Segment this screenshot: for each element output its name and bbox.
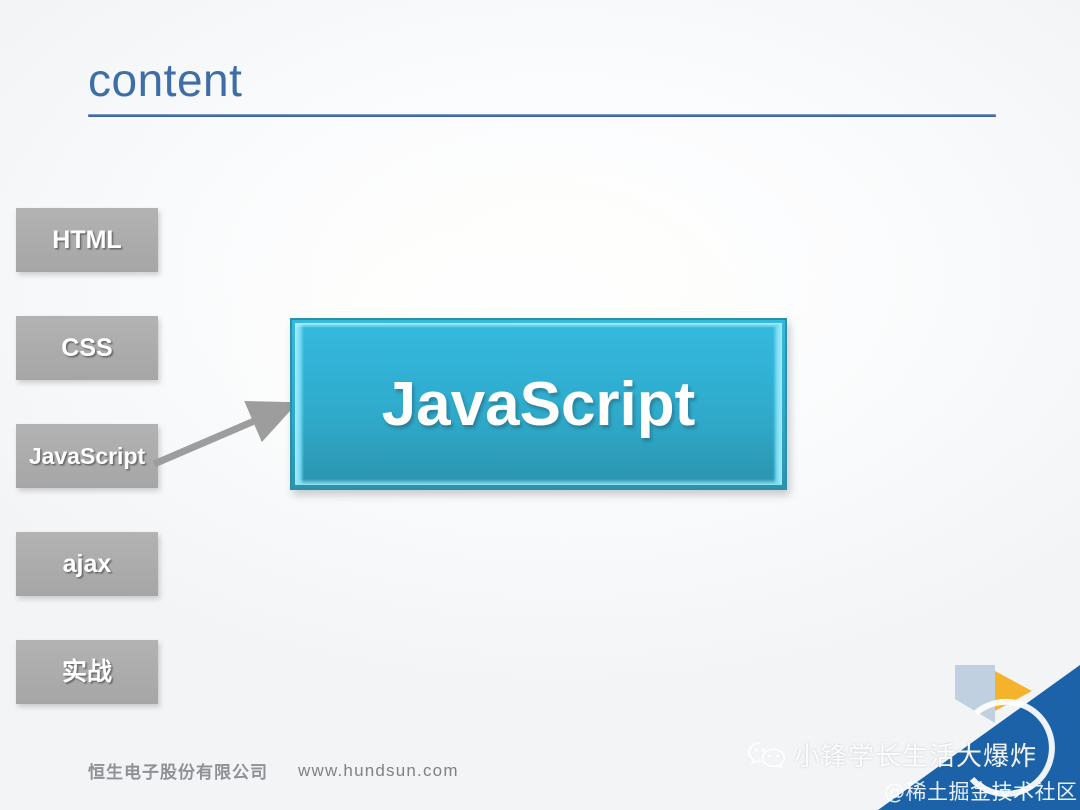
nav-chip-ajax[interactable]: ajax [16, 532, 158, 596]
watermark-account-name: 小锋学长生活大爆炸 [794, 736, 1037, 773]
nav-list: HTML CSS JavaScript ajax 实战 [16, 208, 158, 748]
footer-url: www.hundsun.com [298, 761, 459, 781]
nav-chip-label: HTML [52, 226, 121, 254]
title-block: content [88, 52, 996, 117]
nav-chip-javascript[interactable]: JavaScript [16, 424, 158, 488]
nav-chip-practice[interactable]: 实战 [16, 640, 158, 704]
box-top-bevel [295, 323, 782, 328]
wechat-icon [748, 740, 786, 770]
nav-chip-label: CSS [61, 334, 112, 362]
nav-chip-label: ajax [63, 550, 112, 578]
box-bottom-bevel [295, 479, 782, 485]
footer-company-name: 恒生电子股份有限公司 [88, 758, 268, 783]
title-underline [88, 114, 996, 117]
nav-chip-label: JavaScript [29, 443, 145, 470]
nav-chip-label: 实战 [62, 658, 112, 686]
connector-arrow-icon [140, 380, 315, 485]
main-content-box[interactable]: JavaScript [290, 318, 787, 490]
watermark-community: @稀土掘金技术社区 [884, 776, 1078, 806]
slide-canvas: content HTML CSS JavaScript ajax 实战 [0, 0, 1080, 810]
main-box-label: JavaScript [382, 369, 696, 440]
nav-chip-html[interactable]: HTML [16, 208, 158, 272]
corner-decoration [780, 665, 1080, 810]
footer: 恒生电子股份有限公司 www.hundsun.com [88, 758, 459, 783]
watermark-account: 小锋学长生活大爆炸 [748, 736, 1037, 773]
page-title: content [88, 52, 996, 108]
nav-chip-css[interactable]: CSS [16, 316, 158, 380]
